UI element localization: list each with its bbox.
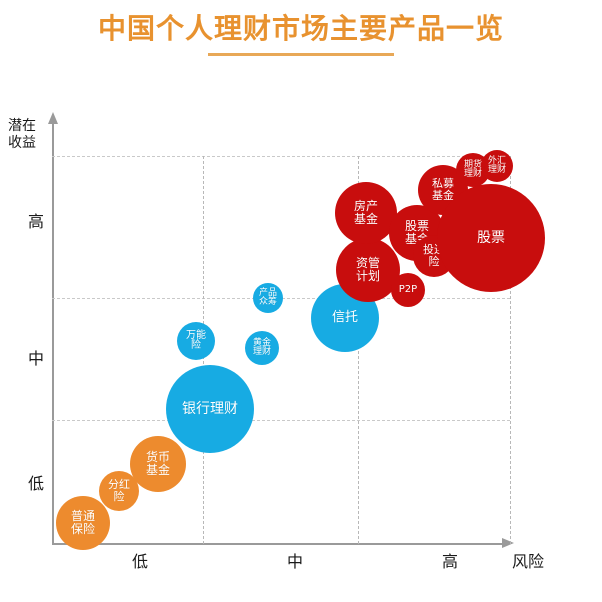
bubble-P2P[interactable]: P2P <box>391 273 425 307</box>
plot-area: 普通 保险分红 险货币 基金银行理财万能 险黄金 理财产品 众筹信托资管 计划房… <box>52 118 512 544</box>
y-axis-tick-2: 低 <box>28 470 44 494</box>
bubble-银行理财[interactable]: 银行理财 <box>166 365 254 453</box>
title-underline-rule <box>208 53 394 56</box>
x-axis-title: 风险 <box>512 548 544 572</box>
bubble-普通保险[interactable]: 普通 保险 <box>56 496 110 550</box>
y-axis-arrowhead-icon <box>48 112 58 124</box>
y-axis-title-line1: 潜在 <box>8 118 48 135</box>
bubble-产品众筹[interactable]: 产品 众筹 <box>253 283 283 313</box>
y-axis-tick-1: 中 <box>28 345 44 369</box>
gridline-horizontal-0 <box>52 156 510 157</box>
bubble-label: P2P <box>399 285 417 296</box>
bubble-label: 普通 保险 <box>71 510 95 535</box>
bubble-房产基金[interactable]: 房产 基金 <box>335 182 397 244</box>
bubble-label: 信托 <box>332 311 358 325</box>
x-axis-arrowhead-icon <box>502 538 514 548</box>
bubble-label: 银行理财 <box>182 402 238 417</box>
bubble-chart-page: 中国个人理财市场主要产品一览 潜在 收益 风险 普通 保险分红 险货币 基金银行… <box>0 0 602 602</box>
bubble-股票[interactable]: 股票 <box>437 184 545 292</box>
bubble-货币基金[interactable]: 货币 基金 <box>130 436 186 492</box>
y-axis-line <box>52 124 54 544</box>
bubble-label: 资管 计划 <box>356 257 380 282</box>
gridline-horizontal-2 <box>52 420 510 421</box>
bubble-label: 股票 <box>477 231 505 246</box>
bubble-黄金理财[interactable]: 黄金 理财 <box>245 331 279 365</box>
bubble-label: 私募 基金 <box>432 178 454 201</box>
y-axis-tick-0: 高 <box>28 208 44 232</box>
bubble-外汇理财[interactable]: 外汇 理财 <box>481 150 513 182</box>
bubble-label: 外汇 理财 <box>488 157 506 176</box>
x-axis-tick-1: 中 <box>287 548 303 572</box>
bubble-label: 房产 基金 <box>354 200 378 225</box>
x-axis-line <box>52 543 504 545</box>
bubble-label: 万能 险 <box>186 331 206 352</box>
y-axis-title-line2: 收益 <box>8 135 48 152</box>
y-axis-title: 潜在 收益 <box>8 118 48 152</box>
title-block: 中国个人理财市场主要产品一览 <box>0 12 602 56</box>
bubble-label: 分红 险 <box>108 479 130 502</box>
x-axis-tick-2: 高 <box>442 548 458 572</box>
bubble-label: 期货 理财 <box>464 161 482 180</box>
x-axis-tick-0: 低 <box>132 548 148 572</box>
page-title: 中国个人理财市场主要产品一览 <box>0 12 602 46</box>
bubble-label: 产品 众筹 <box>259 289 277 308</box>
bubble-万能险[interactable]: 万能 险 <box>177 322 215 360</box>
bubble-label: 黄金 理财 <box>253 339 271 358</box>
bubble-label: 货币 基金 <box>146 451 170 476</box>
